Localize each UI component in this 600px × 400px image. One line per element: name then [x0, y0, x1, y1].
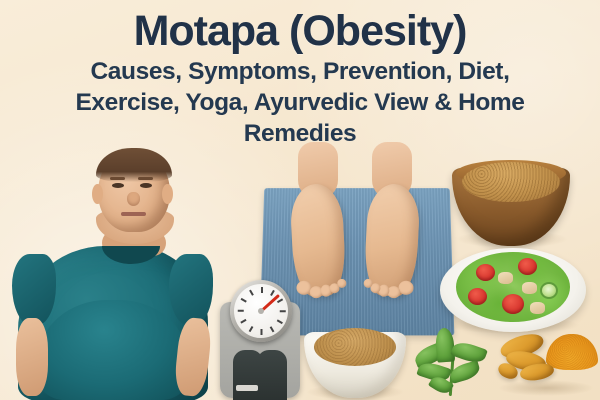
man-sleeve-right [169, 254, 213, 326]
brown-powder [314, 328, 396, 366]
cucumber-slice [540, 282, 558, 299]
man-eyebrow-right [138, 177, 153, 180]
page-title: Motapa (Obesity) [0, 0, 600, 54]
chicken-piece [522, 282, 537, 294]
turmeric-root-and-powder-photo [498, 330, 600, 400]
turmeric-powder [546, 334, 598, 370]
man-arm-left [16, 318, 48, 396]
scale-needle-hub [258, 308, 264, 314]
obesity-infographic-poster: Motapa (Obesity) Causes, Symptoms, Preve… [0, 0, 600, 400]
scale-label-window [236, 385, 258, 391]
sage-leaf [435, 327, 455, 362]
bathroom-scale-photo [214, 276, 306, 400]
man-ear-right [162, 184, 173, 204]
tomato-slice [502, 294, 524, 314]
scale-dial-face [234, 284, 288, 338]
man-eye-right [140, 183, 152, 188]
white-bowl-powder-photo [304, 322, 406, 400]
man-eye-left [112, 183, 124, 188]
tomato-slice [468, 288, 487, 305]
man-eyebrow-left [110, 177, 125, 180]
heading-block: Motapa (Obesity) Causes, Symptoms, Preve… [0, 0, 600, 147]
man-mouth [121, 212, 146, 216]
tomato-slice [476, 264, 495, 281]
tomato-slice [518, 258, 537, 275]
wooden-bowl-grains-photo [452, 152, 570, 252]
subtitle-line-1: Causes, Symptoms, Prevention, Diet, [0, 54, 600, 85]
subtitle-line-3: Remedies [0, 116, 600, 147]
sage-leaves-photo [414, 326, 492, 400]
man-sleeve-left [12, 254, 56, 326]
man-belly [38, 300, 188, 400]
overweight-man-photo [10, 150, 225, 400]
subtitle-line-2: Exercise, Yoga, Ayurvedic View & Home [0, 85, 600, 116]
chicken-piece [498, 272, 513, 284]
chicken-piece [530, 302, 545, 314]
whole-grains [462, 162, 560, 202]
man-nose [127, 192, 140, 206]
scale-foot-pad-right [257, 350, 287, 400]
man-hair [96, 148, 172, 182]
man-ear-left [92, 184, 103, 204]
salad-plate-photo [440, 242, 586, 334]
